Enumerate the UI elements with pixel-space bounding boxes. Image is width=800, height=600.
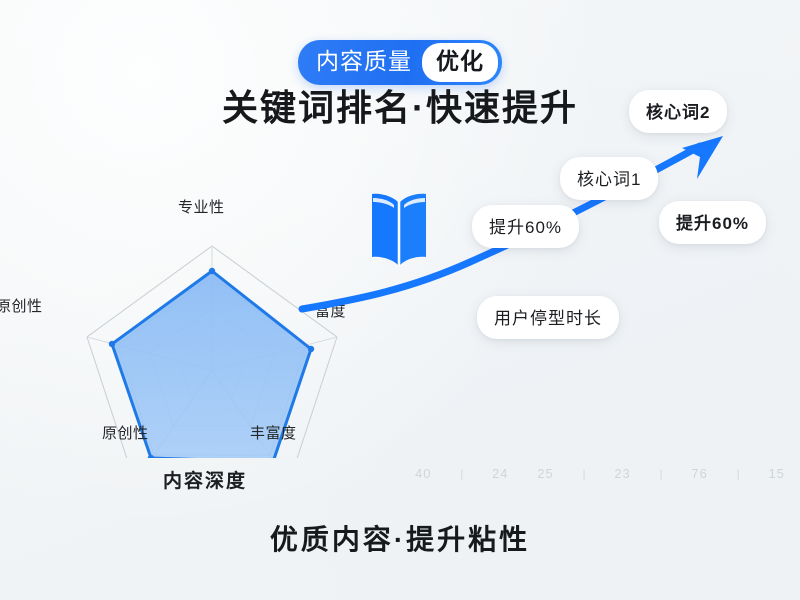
radar-axis-label-bottom-left: 原创性: [102, 422, 149, 443]
tick-value-7: 76: [691, 466, 707, 481]
quality-badge[interactable]: 内容质量 优化: [298, 40, 502, 85]
tick-mark-4: |: [582, 467, 585, 481]
tick-mark-6: |: [660, 467, 663, 481]
faint-axis-ticks: 40 | 24 25 | 23 | 76 | 15: [415, 466, 785, 481]
badge-container: 内容质量 优化: [0, 40, 800, 85]
chip-uplift-right[interactable]: 提升60%: [659, 201, 766, 244]
chip-dwell-time[interactable]: 用户停型时长: [477, 296, 619, 339]
content-depth-label: 内容深度: [163, 466, 247, 493]
chip-keyword1[interactable]: 核心词1: [560, 157, 658, 200]
chip-keyword2[interactable]: 核心词2: [629, 90, 727, 133]
open-book-icon: [368, 189, 430, 269]
radar-axis-label-top: 专业性: [178, 196, 225, 217]
radar-axis-label-right: 富度: [315, 300, 346, 321]
tick-value-0: 40: [415, 466, 431, 481]
chip-uplift-left[interactable]: 提升60%: [472, 205, 579, 248]
poster-canvas: 内容质量 优化 关键词排名·快速提升: [0, 0, 800, 600]
radar-axis-label-bottom-right: 丰富度: [250, 422, 297, 443]
footer-title: 优质内容·提升粘性: [0, 518, 800, 558]
tick-value-5: 23: [614, 466, 630, 481]
badge-main-label: 内容质量: [316, 44, 422, 81]
tick-mark-8: |: [737, 467, 740, 481]
radar-axis-label-left: 原创性: [0, 295, 43, 316]
tick-value-2: 24: [492, 466, 508, 481]
tick-mark-1: |: [460, 467, 463, 481]
radar-chart: 专业性 富度 丰富度 原创性 原创性: [62, 228, 362, 458]
badge-pill-label: 优化: [422, 43, 498, 82]
tick-value-3: 25: [537, 466, 553, 481]
tick-value-9: 15: [768, 466, 784, 481]
